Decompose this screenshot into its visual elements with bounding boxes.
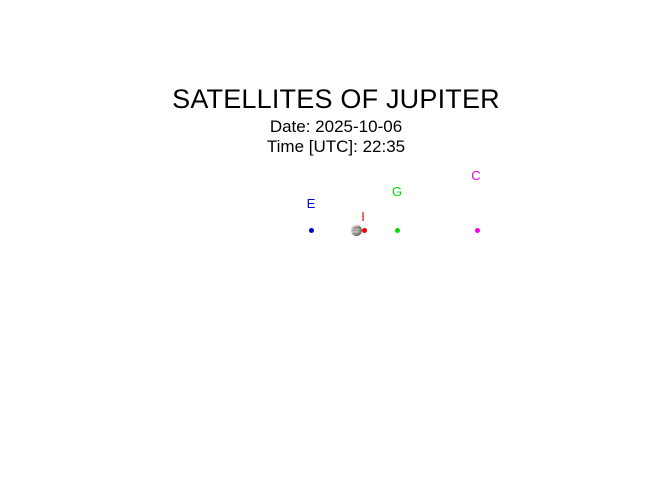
moon-marker-europa (309, 228, 314, 233)
observation-time: Time [UTC]: 22:35 (0, 137, 672, 156)
page-title: SATELLITES OF JUPITER (0, 84, 672, 114)
moon-marker-ganymede (395, 228, 400, 233)
moon-marker-callisto (475, 228, 480, 233)
moon-label-ganymede: G (392, 185, 402, 198)
jupiter-disk (351, 225, 362, 236)
satellite-chart: SATELLITES OF JUPITER Date: 2025-10-06 T… (0, 0, 672, 480)
moon-label-europa: E (307, 197, 316, 210)
moon-label-io: I (361, 210, 365, 223)
observation-date: Date: 2025-10-06 (0, 117, 672, 136)
moon-marker-io (362, 228, 367, 233)
moon-label-callisto: C (471, 169, 480, 182)
